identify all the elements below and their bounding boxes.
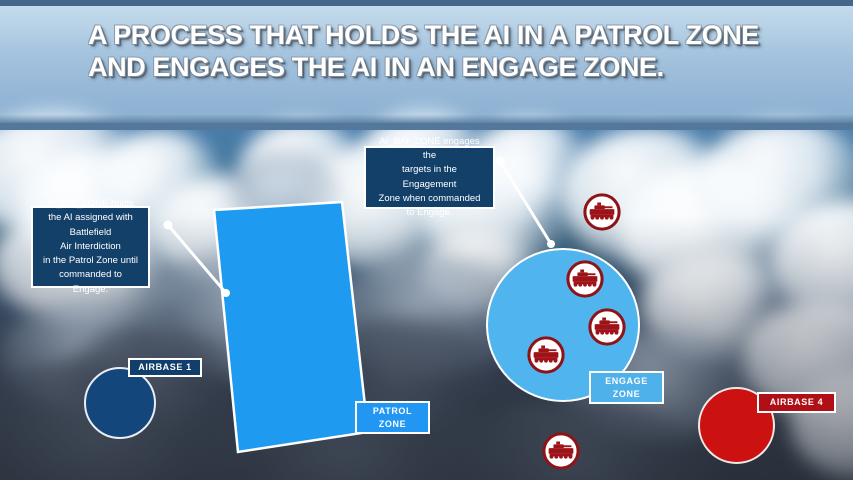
patrol-callout-box[interactable]: AI_BAI_ZONE holds the AI assigned with B…: [31, 206, 150, 288]
target-marker[interactable]: [527, 336, 565, 374]
patrol-zone-label-text: PATROL ZONE: [373, 405, 412, 429]
patrol-callout-text: AI_BAI_ZONE holds the AI assigned with B…: [41, 197, 140, 297]
patrol-zone-label[interactable]: PATROL ZONE: [355, 401, 430, 434]
airbase-1-label[interactable]: AIRBASE 1: [128, 358, 202, 377]
label-line: ZONE: [373, 418, 412, 430]
target-marker[interactable]: [588, 308, 626, 346]
label-line: ENGAGE: [605, 375, 648, 387]
callout-line: to Engage.: [374, 206, 485, 220]
callout-line: in the Patrol Zone until: [41, 254, 140, 268]
label-line: ZONE: [605, 388, 648, 400]
callout-line: commanded to Engage.: [41, 268, 140, 297]
engage-zone-label[interactable]: ENGAGE ZONE: [589, 371, 664, 404]
engage-callout-text: AI_BAI_ZONE engages the targets in the E…: [374, 135, 485, 221]
callout-line: Zone when commanded: [374, 192, 485, 206]
title-band-top-rule: [0, 0, 853, 6]
callout-line: AI_BAI_ZONE holds: [41, 197, 140, 211]
title-band-bottom-rule: [0, 123, 853, 130]
page-title: A PROCESS THAT HOLDS THE AI IN A PATROL …: [88, 20, 808, 83]
engage-zone-label-text: ENGAGE ZONE: [605, 375, 648, 399]
patrol-zone-polygon: [214, 202, 368, 452]
callout-line: AI_BAI_ZONE engages the: [374, 135, 485, 164]
airbase-1-label-text: AIRBASE 1: [138, 361, 191, 373]
callout-line: the AI assigned with: [41, 211, 140, 225]
target-marker[interactable]: [566, 260, 604, 298]
airbase-1-shape[interactable]: [84, 367, 156, 439]
airbase-4-label-text: AIRBASE 4: [770, 396, 823, 408]
presentation-slide: A PROCESS THAT HOLDS THE AI IN A PATROL …: [0, 0, 853, 480]
callout-line: Air Interdiction: [41, 240, 140, 254]
airbase-4-label[interactable]: AIRBASE 4: [757, 392, 836, 413]
target-marker[interactable]: [542, 432, 580, 470]
label-line: PATROL: [373, 405, 412, 417]
engage-callout-box[interactable]: AI_BAI_ZONE engages the targets in the E…: [364, 146, 495, 209]
callout-line: targets in the Engagement: [374, 163, 485, 192]
target-marker[interactable]: [583, 193, 621, 231]
callout-line: Battlefield: [41, 226, 140, 240]
